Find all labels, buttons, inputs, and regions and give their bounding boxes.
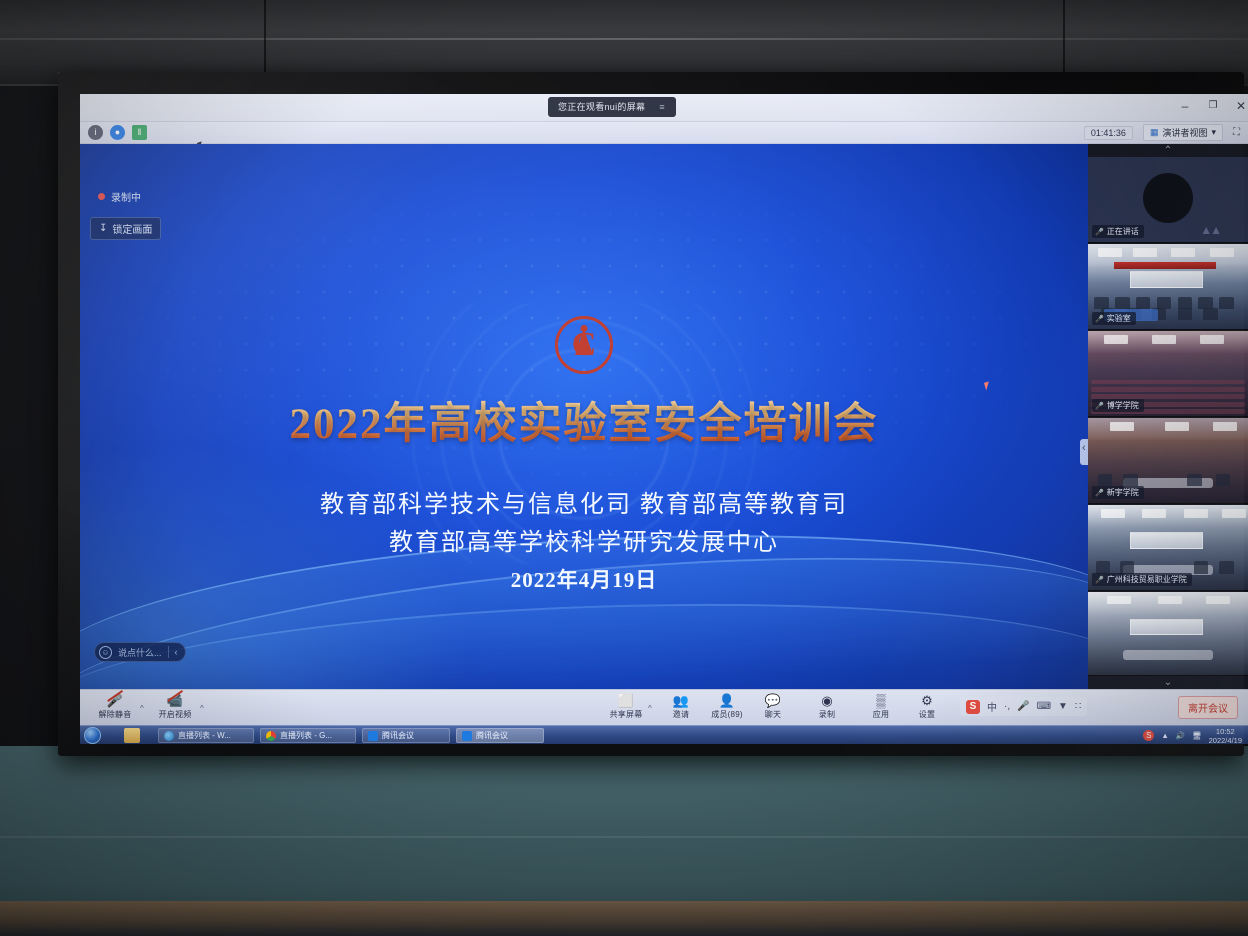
ceiling-seam <box>0 38 1248 40</box>
apps-grid-icon: ▒ <box>858 693 904 708</box>
app-watermark-icon: ▲▲ <box>1200 223 1220 237</box>
ceiling-lights <box>1088 335 1248 344</box>
slide-date: 2022年4月19日 <box>80 564 1088 594</box>
leave-meeting-button[interactable]: 离开会议 <box>1178 696 1238 719</box>
divider <box>168 646 169 658</box>
conference-logo-icon: C <box>555 316 613 374</box>
video-tile[interactable]: 🎤 实验室 <box>1088 244 1248 330</box>
ime-mode-label[interactable]: 中 <box>987 699 997 714</box>
shared-screen-area[interactable]: 录制中 ↧ 锁定画面 C 2022年高校实验室安全培训会 教育部科学技术与信息化… <box>80 144 1088 689</box>
taskbar-item-label: 腾讯会议 <box>382 730 414 741</box>
participant-name-badge: 🎤 新宇学院 <box>1092 486 1144 499</box>
toolbar-participants-button[interactable]: 👤 成员(89) <box>704 693 750 723</box>
participant-name: 新宇学院 <box>1107 487 1139 498</box>
scroll-down-icon[interactable]: ⌄ <box>1088 676 1248 689</box>
network-icon[interactable]: 🖥 <box>1192 731 1202 740</box>
share-screen-icon: ⬜ <box>603 693 649 708</box>
logo-head-icon <box>581 325 588 332</box>
toolbar-apps-button[interactable]: ▒ 应用 <box>858 693 904 723</box>
toolbar-invite-button[interactable]: 👥 邀请 <box>658 693 704 723</box>
ceiling-lights <box>1088 248 1248 257</box>
recording-label: 录制中 <box>111 189 141 204</box>
invite-icon: 👥 <box>658 693 704 708</box>
toolbar-share-screen-button[interactable]: ⬜ 共享屏幕 <box>603 693 649 723</box>
taskbar-item-chrome[interactable]: 直播列表 - G... <box>260 728 356 743</box>
stats-icon[interactable]: ‖ <box>132 125 147 140</box>
ceiling-lights <box>1088 422 1248 431</box>
ime-toolbox-icon[interactable]: ∷ <box>1075 701 1081 712</box>
participant-name-badge: 🎤 正在讲话 <box>1092 225 1144 238</box>
toolbar-start-video-button[interactable]: 📹 开启视频 <box>152 693 198 723</box>
participant-name: 广州科技贸易职业学院 <box>1107 574 1187 585</box>
share-banner-text: 您正在观看nui的屏幕 <box>558 97 645 117</box>
toolbar-settings-button[interactable]: ⚙ 设置 <box>904 693 950 723</box>
mic-icon: 🎤 <box>1095 489 1104 497</box>
toolbar-record-button[interactable]: ◉ 录制 <box>804 693 850 723</box>
chat-icon: 💬 <box>750 693 796 708</box>
taskbar-item-label: 直播列表 - G... <box>280 730 332 741</box>
chevron-up-icon[interactable]: ^ <box>200 704 204 713</box>
clock-time: 10:52 <box>1209 727 1242 736</box>
toolbar-label: 应用 <box>858 709 904 720</box>
ime-punctuation-icon[interactable]: ·, <box>1004 701 1010 712</box>
video-thumbnail-strip[interactable]: ⌃ ▲▲ 🎤 正在讲话 <box>1088 144 1248 689</box>
view-mode-selector[interactable]: ▦ 演讲者视图 ▾ <box>1143 124 1223 141</box>
stage-screen <box>1130 619 1204 636</box>
clock-date: 2022/4/19 <box>1209 736 1242 745</box>
toolbar-label: 邀请 <box>658 709 704 720</box>
file-explorer-icon[interactable] <box>124 728 140 743</box>
participant-name: 实验室 <box>1107 313 1131 324</box>
video-tile[interactable]: 🎤 新宇学院 <box>1088 418 1248 504</box>
toolbar-chat-button[interactable]: 💬 聊天 <box>750 693 796 723</box>
screen-share-banner: 您正在观看nui的屏幕 ≡ <box>548 97 676 117</box>
start-button-icon[interactable] <box>84 727 101 744</box>
taskbar-item-tencent-meeting[interactable]: 腾讯会议 <box>362 728 450 743</box>
video-tile[interactable] <box>1088 592 1248 676</box>
slide-subtitle-line2: 教育部高等学校科学研究发展中心 <box>80 522 1088 557</box>
display-screen: 您正在观看nui的屏幕 ≡ – ❐ ✕ i ● ‖ 01:41:36 ▦ 演讲者… <box>80 94 1248 744</box>
toolbar-label: 聊天 <box>750 709 796 720</box>
gear-icon: ⚙ <box>904 693 950 708</box>
mic-icon: 🎤 <box>1095 315 1104 323</box>
fullscreen-icon[interactable]: ⛶ <box>1233 127 1240 138</box>
display-bezel: 您正在观看nui的屏幕 ≡ – ❐ ✕ i ● ‖ 01:41:36 ▦ 演讲者… <box>58 72 1244 756</box>
ime-voice-icon[interactable]: 🎤 <box>1017 701 1029 712</box>
chrome-icon <box>266 731 276 741</box>
taskbar-item-ie[interactable]: 直播列表 - W... <box>158 728 254 743</box>
tencent-meeting-icon <box>368 731 378 741</box>
tray-expand-icon[interactable]: ▲ <box>1161 731 1168 740</box>
stage-banner <box>1114 262 1216 270</box>
participant-name: 正在讲话 <box>1107 226 1139 237</box>
wall-trim-line <box>0 836 1248 838</box>
volume-icon[interactable]: 🔊 <box>1176 731 1185 740</box>
subbar-right-group: 01:41:36 ▦ 演讲者视图 ▾ ⛶ <box>1084 124 1240 141</box>
recording-dot-icon <box>98 193 105 200</box>
meeting-table <box>1123 650 1213 660</box>
quick-chat-placeholder: 说点什么... <box>118 646 162 659</box>
lock-screen-button[interactable]: ↧ 锁定画面 <box>90 217 161 240</box>
info-icon[interactable]: i <box>88 125 103 140</box>
network-icon[interactable]: ● <box>110 125 125 140</box>
lock-screen-label: 锁定画面 <box>112 221 152 236</box>
system-tray: S ▲ 🔊 🖥 10:52 2022/4/19 <box>1143 726 1246 744</box>
toolbar-label: 开启视频 <box>152 709 198 720</box>
meeting-timer: 01:41:36 <box>1084 126 1133 140</box>
participant-name-badge: 🎤 广州科技贸易职业学院 <box>1092 573 1192 586</box>
record-icon: ◉ <box>804 693 850 708</box>
toolbar-unmute-button[interactable]: 🎤 解除静音 <box>92 693 138 723</box>
sogou-ime-toolbar[interactable]: S 中 ·, 🎤 ⌨ ▼ ∷ <box>960 697 1087 716</box>
slide-subtitle-line1: 教育部科学技术与信息化司 教育部高等教育司 <box>80 484 1088 519</box>
ime-keyboard-icon[interactable]: ⌨ <box>1037 701 1051 712</box>
video-tile[interactable]: ▲▲ 🎤 正在讲话 <box>1088 157 1248 243</box>
toolbar-label: 设置 <box>904 709 950 720</box>
windows-taskbar: 直播列表 - W... 直播列表 - G... 腾讯会议 腾讯会议 S ▲ 🔊 … <box>80 725 1248 744</box>
mic-icon: 🎤 <box>1095 228 1104 236</box>
video-tile[interactable]: 🎤 广州科技贸易职业学院 <box>1088 505 1248 591</box>
avatar <box>1143 173 1193 223</box>
collapse-strip-handle[interactable] <box>1080 439 1088 465</box>
chevron-left-icon[interactable]: ‹ <box>175 647 181 657</box>
mic-icon: 🎤 <box>1095 402 1104 410</box>
participant-name-badge: 🎤 博学学院 <box>1092 399 1144 412</box>
mic-icon: 🎤 <box>1095 576 1104 584</box>
taskbar-clock[interactable]: 10:52 2022/4/19 <box>1209 727 1246 745</box>
chevron-down-icon: ▾ <box>1211 127 1216 138</box>
taskbar-item-tencent-meeting-active[interactable]: 腾讯会议 <box>456 728 544 743</box>
participant-name-badge: 🎤 实验室 <box>1092 312 1136 325</box>
chevron-up-icon[interactable]: ^ <box>648 704 652 713</box>
logo-figure-icon <box>575 329 593 355</box>
taskbar-item-label: 腾讯会议 <box>476 730 508 741</box>
meeting-window-titlebar: 您正在观看nui的屏幕 ≡ – ❐ ✕ <box>80 94 1248 122</box>
subbar-icon-group: i ● ‖ <box>88 125 147 140</box>
quick-chat-input[interactable]: ☺ 说点什么... ‹ <box>94 642 186 662</box>
floor-strip <box>0 901 1248 936</box>
participants-icon: 👤 <box>704 693 750 708</box>
ceiling-lights <box>1088 596 1248 604</box>
taskbar-item-label: 直播列表 - W... <box>178 730 231 741</box>
lock-icon: ↧ <box>99 223 107 234</box>
toolbar-label: 共享屏幕 <box>603 709 649 720</box>
minimize-button[interactable]: – <box>1172 96 1198 116</box>
internet-explorer-icon <box>164 731 174 741</box>
emoji-icon[interactable]: ☺ <box>99 646 112 659</box>
view-mode-label: 演讲者视图 <box>1162 126 1207 139</box>
chevron-up-icon[interactable]: ^ <box>140 704 144 713</box>
recording-indicator: 录制中 <box>98 189 141 204</box>
scroll-up-icon[interactable]: ⌃ <box>1088 144 1248 157</box>
slide-title: 2022年高校实验室安全培训会 <box>80 389 1088 451</box>
drag-handle-icon[interactable]: ≡ <box>659 97 665 117</box>
maximize-button[interactable]: ❐ <box>1200 96 1226 116</box>
sogou-tray-icon[interactable]: S <box>1143 730 1154 741</box>
ceiling-lights <box>1088 509 1248 518</box>
toolbar-label: 解除静音 <box>92 709 138 720</box>
sogou-logo-icon[interactable]: S <box>966 700 980 714</box>
meeting-toolbar: 🎤 解除静音 ^ 📹 开启视频 ^ ⬜ 共享屏幕 ^ 👥 邀请 👤 <box>80 689 1248 725</box>
participant-name: 博学学院 <box>1107 400 1139 411</box>
layout-grid-icon: ▦ <box>1150 127 1159 138</box>
close-button[interactable]: ✕ <box>1228 96 1248 116</box>
meeting-subbar: i ● ‖ 01:41:36 ▦ 演讲者视图 ▾ ⛶ <box>80 122 1248 144</box>
tencent-meeting-icon <box>462 731 472 741</box>
toolbar-label: 成员(89) <box>704 709 750 720</box>
video-tile[interactable]: 🎤 博学学院 <box>1088 331 1248 417</box>
ime-skin-icon[interactable]: ▼ <box>1058 701 1068 712</box>
toolbar-label: 录制 <box>804 709 850 720</box>
